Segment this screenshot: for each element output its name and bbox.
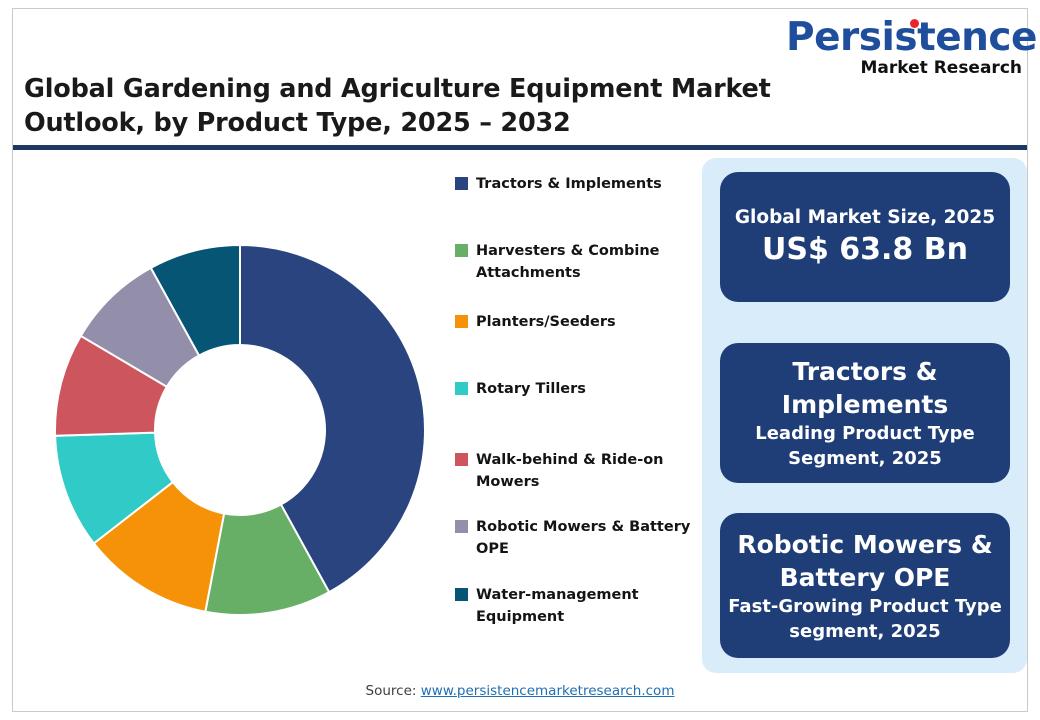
legend-item-label: Planters/Seeders — [476, 311, 616, 333]
callout-market-size: Global Market Size, 2025 US$ 63.8 Bn — [720, 172, 1010, 302]
source-line: Source: www.persistencemarketresearch.co… — [0, 683, 1040, 699]
callout-leading-segment-desc: Leading Product Type Segment, 2025 — [720, 421, 1010, 471]
company-logo: Persistence Market Research — [786, 18, 1022, 76]
callout-market-size-value: US$ 63.8 Bn — [762, 231, 968, 269]
page-title: Global Gardening and Agriculture Equipme… — [24, 72, 884, 140]
highlights-panel: Global Market Size, 2025 US$ 63.8 Bn Tra… — [702, 158, 1027, 673]
title-divider — [13, 145, 1027, 150]
source-prefix: Source: — [366, 683, 421, 699]
legend-item-label: Tractors & Implements — [476, 173, 662, 195]
legend-item[interactable]: Robotic Mowers & Battery OPE — [455, 516, 695, 560]
legend-swatch-icon — [455, 177, 468, 190]
callout-leading-segment: Tractors & Implements Leading Product Ty… — [720, 343, 1010, 483]
legend-item[interactable]: Tractors & Implements — [455, 173, 695, 195]
logo-dot-icon — [910, 19, 919, 28]
donut-chart-svg — [40, 230, 440, 630]
donut-chart — [40, 230, 440, 630]
legend-swatch-icon — [455, 315, 468, 328]
callout-leading-segment-name: Tractors & Implements — [720, 355, 1010, 421]
legend-item[interactable]: Rotary Tillers — [455, 378, 695, 400]
legend-item[interactable]: Water-management Equipment — [455, 584, 695, 628]
callout-fastest-growing-desc: Fast-Growing Product Type segment, 2025 — [720, 594, 1010, 644]
legend-swatch-icon — [455, 244, 468, 257]
logo-wordmark: Persistence — [786, 18, 1022, 58]
callout-fastest-growing-segment: Robotic Mowers & Battery OPE Fast-Growin… — [720, 513, 1010, 658]
legend-item-label: Robotic Mowers & Battery OPE — [476, 516, 695, 560]
donut-slice-group — [55, 245, 425, 615]
legend-item[interactable]: Planters/Seeders — [455, 311, 695, 333]
legend-item-label: Rotary Tillers — [476, 378, 586, 400]
infographic-page: Persistence Market Research Global Garde… — [0, 0, 1040, 720]
callout-market-size-title: Global Market Size, 2025 — [735, 205, 995, 231]
chart-legend: Tractors & ImplementsHarvesters & Combin… — [455, 168, 695, 638]
legend-item-label: Walk-behind & Ride-on Mowers — [476, 449, 695, 493]
legend-swatch-icon — [455, 453, 468, 466]
source-link[interactable]: www.persistencemarketresearch.com — [421, 683, 675, 699]
legend-item[interactable]: Walk-behind & Ride-on Mowers — [455, 449, 695, 493]
legend-swatch-icon — [455, 520, 468, 533]
legend-item[interactable]: Harvesters & Combine Attachments — [455, 240, 695, 284]
legend-swatch-icon — [455, 588, 468, 601]
legend-item-label: Water-management Equipment — [476, 584, 695, 628]
legend-swatch-icon — [455, 382, 468, 395]
legend-item-label: Harvesters & Combine Attachments — [476, 240, 695, 284]
callout-fastest-growing-name: Robotic Mowers & Battery OPE — [720, 528, 1010, 594]
